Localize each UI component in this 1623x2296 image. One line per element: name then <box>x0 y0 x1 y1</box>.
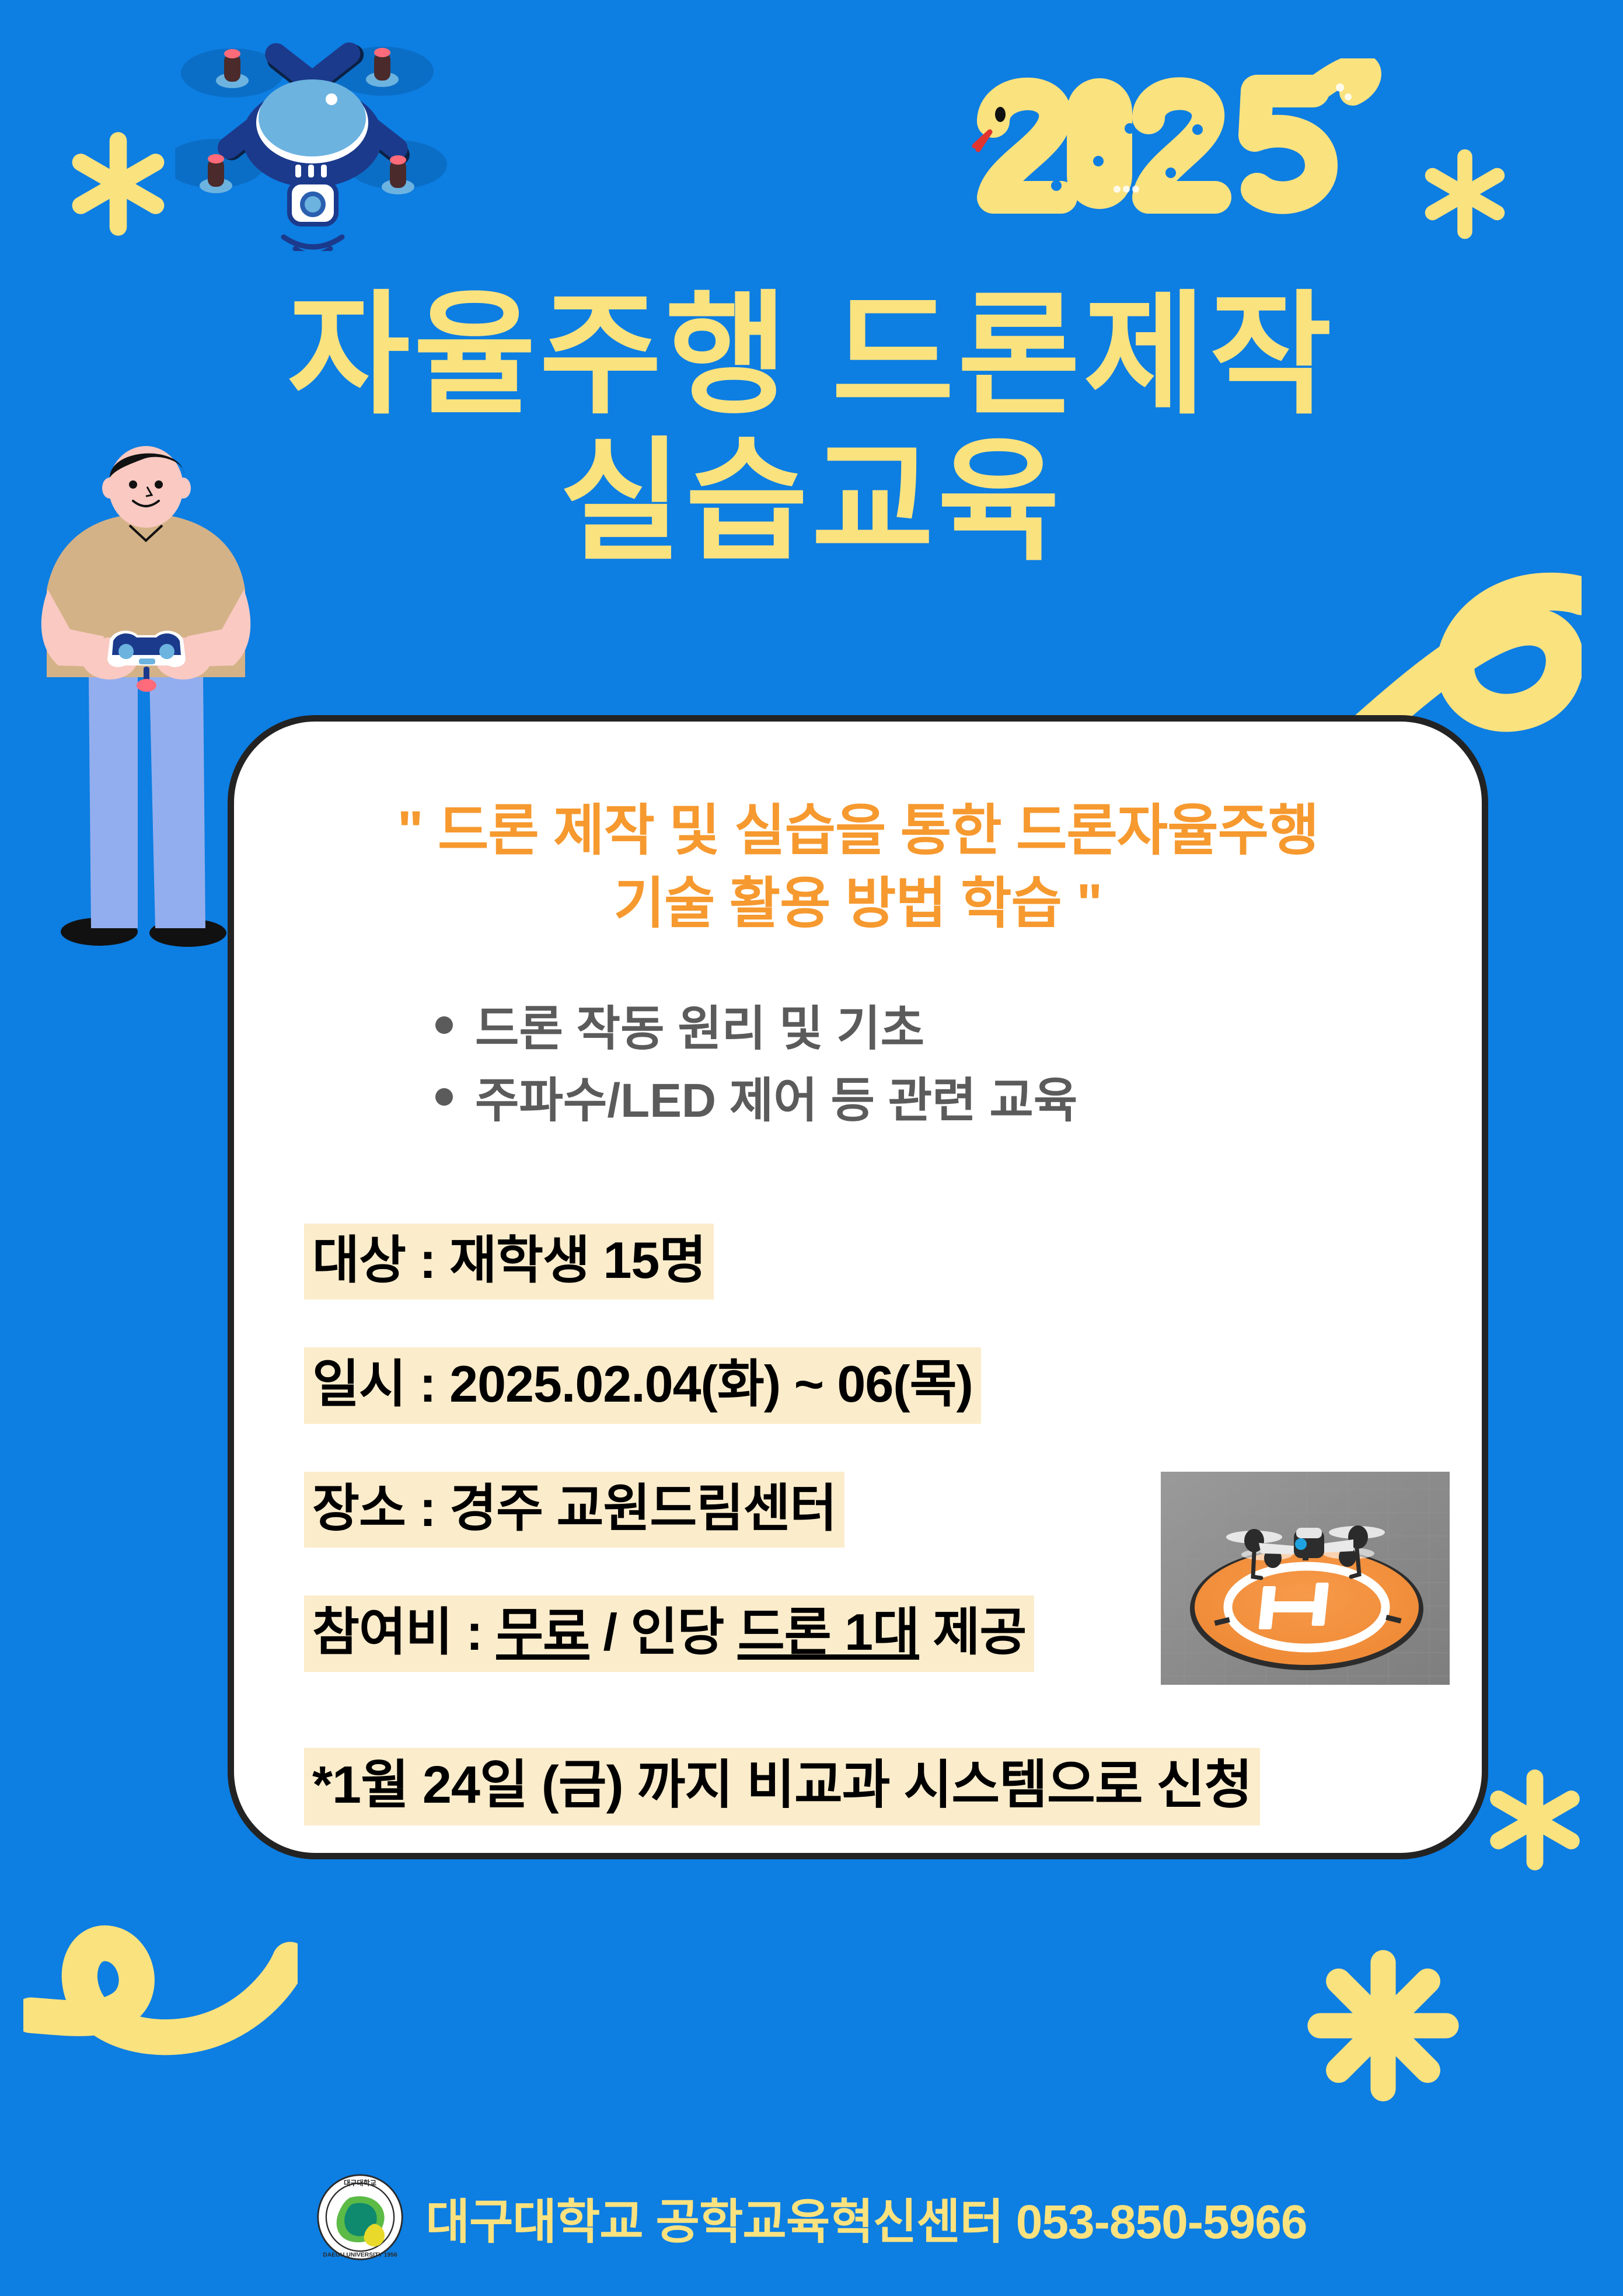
drone-illustration <box>175 18 449 251</box>
fee-suffix: 제공 <box>919 1603 1026 1661</box>
title-line-1: 자율주행 드론제작 <box>0 286 1623 426</box>
info-card: " 드론 제작 및 실습을 통한 드론자율주행 기술 활용 방법 학습 " 드론… <box>228 715 1488 1859</box>
bullet-dot-icon <box>435 1016 453 1034</box>
fee-separator: / 인당 <box>589 1603 738 1661</box>
detail-value: 재학생 15명 <box>449 1231 706 1289</box>
bullet-text: 드론 작동 원리 및 기초 <box>475 993 924 1065</box>
course-goal-quote: " 드론 제작 및 실습을 통한 드론자율주행 기술 활용 방법 학습 " <box>234 795 1482 941</box>
star-right-middle-icon <box>1482 1763 1587 1877</box>
fee-item-value: 드론 1대 <box>738 1603 919 1661</box>
footer-organization-contact: 대구대학교 공학교육혁신센터 053-850-5966 <box>426 2183 1307 2252</box>
star-bottom-right-icon <box>1304 1941 1462 2110</box>
fee-label: 참여비 : <box>312 1603 496 1661</box>
star-top-right-icon <box>1418 143 1512 245</box>
swirl-bottom-left-icon <box>23 1886 298 2084</box>
detail-location: 장소 : 경주 교원드림센터 <box>304 1472 844 1548</box>
curriculum-bullet-list: 드론 작동 원리 및 기초 주파수/LED 제어 등 관련 교육 <box>435 993 1311 1137</box>
detail-value: 경주 교원드림센터 <box>449 1479 836 1537</box>
detail-label: 일시 : <box>312 1355 449 1413</box>
star-top-left-icon <box>64 126 172 242</box>
detail-label: 대상 : <box>312 1231 449 1289</box>
detail-value: 2025.02.04(화) ~ 06(목) <box>449 1355 973 1413</box>
footer: 대구대학교 DAEGU UNIVERSITY 1956 대구대학교 공학교육혁신… <box>0 2173 1623 2261</box>
year-2025-snake-icon <box>963 58 1383 222</box>
quote-line-2: 기술 활용 방법 학습 " <box>234 867 1482 940</box>
detail-label: 장소 : <box>312 1479 449 1537</box>
bullet-dot-icon <box>435 1088 453 1106</box>
bullet-text: 주파수/LED 제어 등 관련 교육 <box>475 1065 1077 1137</box>
drone-helipad-photo <box>1161 1472 1450 1685</box>
quote-line-1: " 드론 제작 및 실습을 통한 드론자율주행 <box>234 795 1482 867</box>
application-deadline-note: *1월 24일 (금) 까지 비교과 시스템으로 신청 <box>304 1748 1260 1825</box>
poster-root: 자율주행 드론제작 실습교육 <box>0 0 1623 2296</box>
list-item: 주파수/LED 제어 등 관련 교육 <box>435 1065 1311 1137</box>
person-with-controller-illustration <box>35 444 257 952</box>
detail-target: 대상 : 재학생 15명 <box>304 1224 714 1299</box>
logo-outer-text: DAEGU UNIVERSITY 1956 <box>323 2252 397 2259</box>
detail-date: 일시 : 2025.02.04(화) ~ 06(목) <box>304 1347 981 1423</box>
detail-fee: 참여비 : 무료 / 인당 드론 1대 제공 <box>304 1595 1034 1671</box>
daegu-university-logo-icon: 대구대학교 DAEGU UNIVERSITY 1956 <box>316 2173 404 2261</box>
list-item: 드론 작동 원리 및 기초 <box>435 993 1311 1065</box>
fee-free-value: 무료 <box>496 1603 589 1661</box>
logo-inner-text: 대구대학교 <box>344 2179 376 2187</box>
